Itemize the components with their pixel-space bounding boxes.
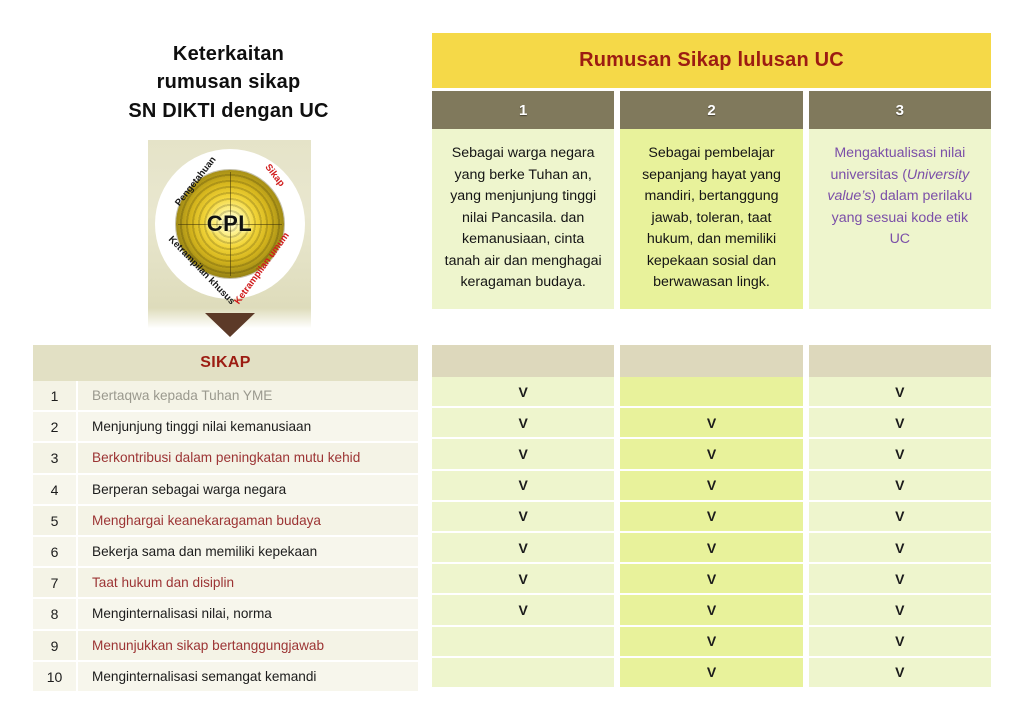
- mapping-check-mark-cell[interactable]: V: [620, 564, 802, 595]
- mapping-matrix-column-3: VVVVVVVVVV: [809, 345, 991, 689]
- sikap-table-row[interactable]: 8Menginternalisasi nilai, norma: [33, 599, 418, 630]
- mapping-check-mark-cell[interactable]: V: [432, 439, 614, 470]
- rumusan-panel-number-row: 1 2 3: [432, 91, 991, 129]
- sikap-table-row[interactable]: 4Berperan sebagai warga negara: [33, 475, 418, 506]
- mapping-empty-cell[interactable]: [620, 377, 802, 408]
- mapping-matrix-column-2: VVVVVVVVV: [620, 345, 802, 689]
- sikap-row-number: 8: [33, 599, 78, 628]
- sikap-row-label: Menjunjung tinggi nilai kemanusiaan: [78, 419, 418, 434]
- mapping-check-mark-cell[interactable]: V: [432, 564, 614, 595]
- sikap-table-body: 1Bertaqwa kepada Tuhan YME2Menjunjung ti…: [33, 381, 418, 693]
- mapping-matrix-column-1: VVVVVVVV: [432, 345, 614, 689]
- mapping-check-mark-cell[interactable]: V: [620, 595, 802, 626]
- rumusan-column-number-1: 1: [432, 91, 614, 129]
- sikap-table-row[interactable]: 1Bertaqwa kepada Tuhan YME: [33, 381, 418, 412]
- mapping-check-mark-cell[interactable]: V: [809, 408, 991, 439]
- mapping-empty-cell[interactable]: [432, 627, 614, 658]
- sikap-table-row[interactable]: 7Taat hukum dan disiplin: [33, 568, 418, 599]
- sikap-table-row[interactable]: 5Menghargai keanekaragaman budaya: [33, 506, 418, 537]
- mapping-check-mark-cell[interactable]: V: [620, 627, 802, 658]
- sikap-row-label: Menginternalisasi semangat kemandi: [78, 669, 418, 684]
- page-title-line-2: rumusan sikap: [96, 68, 361, 96]
- mapping-check-mark-cell[interactable]: V: [620, 408, 802, 439]
- sikap-table-row[interactable]: 2Menjunjung tinggi nilai kemanusiaan: [33, 412, 418, 443]
- mapping-check-mark-cell[interactable]: V: [620, 502, 802, 533]
- sikap-table-row[interactable]: 10Menginternalisasi semangat kemandi: [33, 662, 418, 693]
- mapping-check-mark-cell[interactable]: V: [809, 595, 991, 626]
- slide-root: Keterkaitan rumusan sikap SN DIKTI denga…: [0, 0, 1024, 721]
- page-title-line-1: Keterkaitan: [96, 40, 361, 68]
- sikap-row-label: Menginternalisasi nilai, norma: [78, 606, 418, 621]
- mapping-check-mark-cell[interactable]: V: [620, 471, 802, 502]
- mapping-check-mark-cell[interactable]: V: [809, 533, 991, 564]
- mapping-check-mark-cell[interactable]: V: [432, 533, 614, 564]
- sikap-row-label: Menghargai keanekaragaman budaya: [78, 513, 418, 528]
- sikap-table-row[interactable]: 9Menunjukkan sikap bertanggungjawab: [33, 631, 418, 662]
- page-title: Keterkaitan rumusan sikap SN DIKTI denga…: [96, 40, 361, 125]
- sikap-row-number: 1: [33, 381, 78, 410]
- rumusan-cell-1: Sebagai warga negara yang berke Tuhan an…: [432, 129, 614, 309]
- sikap-row-number: 4: [33, 475, 78, 504]
- sikap-row-number: 9: [33, 631, 78, 660]
- mapping-check-mark-cell[interactable]: V: [809, 564, 991, 595]
- mapping-check-mark-cell[interactable]: V: [809, 439, 991, 470]
- sikap-row-label: Taat hukum dan disiplin: [78, 575, 418, 590]
- mapping-matrix-column-header: [432, 345, 614, 377]
- rumusan-panel: Rumusan Sikap lulusan UC 1 2 3 Sebagai w…: [432, 33, 991, 309]
- mapping-check-mark-cell[interactable]: V: [809, 627, 991, 658]
- sikap-row-number: 7: [33, 568, 78, 597]
- sikap-row-number: 6: [33, 537, 78, 566]
- mapping-check-mark-cell[interactable]: V: [432, 471, 614, 502]
- sikap-table: SIKAP 1Bertaqwa kepada Tuhan YME2Menjunj…: [33, 345, 418, 693]
- down-triangle-arrow-icon: [205, 313, 255, 337]
- rumusan-cell-3: Mengaktualisasi nilai universitas (Unive…: [809, 129, 991, 309]
- sikap-table-header: SIKAP: [33, 345, 418, 381]
- sikap-row-number: 10: [33, 662, 78, 691]
- arrow-band: [148, 308, 311, 342]
- sikap-row-label: Bertaqwa kepada Tuhan YME: [78, 388, 418, 403]
- sikap-row-label: Berperan sebagai warga negara: [78, 482, 418, 497]
- mapping-check-mark-cell[interactable]: V: [432, 377, 614, 408]
- sikap-row-label: Bekerja sama dan memiliki kepekaan: [78, 544, 418, 559]
- mapping-check-mark-cell[interactable]: V: [620, 439, 802, 470]
- rumusan-cell-2: Sebagai pembelajar sepanjang hayat yang …: [620, 129, 802, 309]
- mapping-check-mark-cell[interactable]: V: [809, 471, 991, 502]
- rumusan-cell-3-italic: University value’s: [827, 167, 969, 205]
- cpl-center-label: CPL: [207, 211, 253, 237]
- mapping-check-mark-cell[interactable]: V: [809, 658, 991, 689]
- mapping-matrix: VVVVVVVVVVVVVVVVVVVVVVVVVVV: [432, 345, 991, 689]
- rumusan-panel-title: Rumusan Sikap lulusan UC: [432, 33, 991, 88]
- mapping-check-mark-cell[interactable]: V: [432, 502, 614, 533]
- sikap-table-row[interactable]: 3Berkontribusi dalam peningkatan mutu ke…: [33, 443, 418, 474]
- sikap-table-row[interactable]: 6Bekerja sama dan memiliki kepekaan: [33, 537, 418, 568]
- rumusan-column-number-3: 3: [809, 91, 991, 129]
- cpl-diagram: CPL Pengetahuan Sikap Ketrampilan umum K…: [148, 140, 311, 308]
- mapping-check-mark-cell[interactable]: V: [809, 502, 991, 533]
- sikap-row-number: 3: [33, 443, 78, 472]
- mapping-empty-cell[interactable]: [432, 658, 614, 689]
- mapping-check-mark-cell[interactable]: V: [620, 533, 802, 564]
- mapping-matrix-column-header: [809, 345, 991, 377]
- rumusan-column-number-2: 2: [620, 91, 802, 129]
- mapping-matrix-column-header: [620, 345, 802, 377]
- sikap-row-label: Berkontribusi dalam peningkatan mutu keh…: [78, 450, 418, 465]
- sikap-row-number: 5: [33, 506, 78, 535]
- rumusan-panel-body: Sebagai warga negara yang berke Tuhan an…: [432, 129, 991, 309]
- sikap-row-label: Menunjukkan sikap bertanggungjawab: [78, 638, 418, 653]
- mapping-check-mark-cell[interactable]: V: [620, 658, 802, 689]
- mapping-check-mark-cell[interactable]: V: [432, 408, 614, 439]
- page-title-line-3: SN DIKTI dengan UC: [96, 97, 361, 125]
- mapping-check-mark-cell[interactable]: V: [432, 595, 614, 626]
- sikap-row-number: 2: [33, 412, 78, 441]
- mapping-check-mark-cell[interactable]: V: [809, 377, 991, 408]
